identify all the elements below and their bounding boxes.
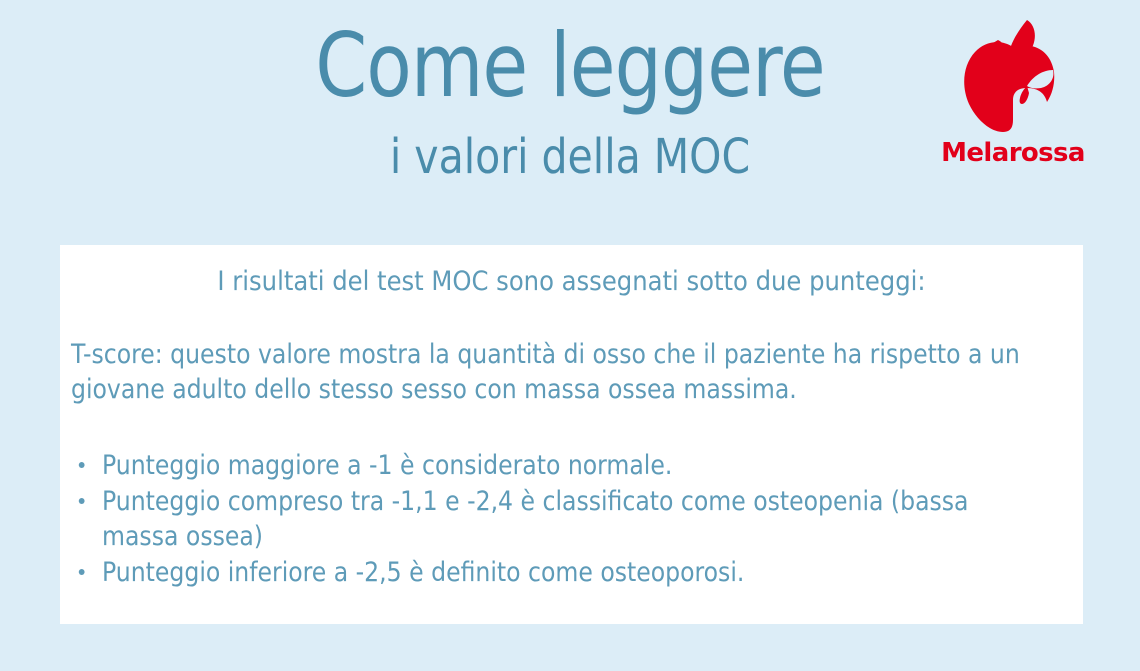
brand-logo: Melarossa (938, 16, 1088, 168)
list-item: Punteggio maggiore a -1 è considerato no… (71, 448, 1046, 483)
page-header: Come leggere i valori della MOC Melaross… (0, 0, 1140, 240)
list-item-label: Punteggio compreso tra -1,1 e -2,4 è cla… (102, 486, 968, 552)
content-card: I risultati del test MOC sono assegnati … (60, 245, 1083, 624)
list-item-label: Punteggio maggiore a -1 è considerato no… (102, 450, 672, 481)
bullet-dot-icon (79, 462, 85, 468)
list-item: Punteggio compreso tra -1,1 e -2,4 è cla… (71, 484, 1046, 554)
brand-wordmark: Melarossa (938, 138, 1088, 168)
bullet-dot-icon (79, 569, 85, 575)
score-bullet-list: Punteggio maggiore a -1 è considerato no… (71, 448, 1076, 591)
tscore-paragraph: T-score: questo valore mostra la quantit… (71, 337, 1051, 407)
bullet-dot-icon (79, 498, 85, 504)
intro-text: I risultati del test MOC sono assegnati … (60, 264, 1083, 299)
list-item-label: Punteggio inferiore a -2,5 è definito co… (102, 557, 744, 588)
apple-icon (957, 16, 1069, 134)
list-item: Punteggio inferiore a -2,5 è definito co… (71, 555, 1046, 590)
